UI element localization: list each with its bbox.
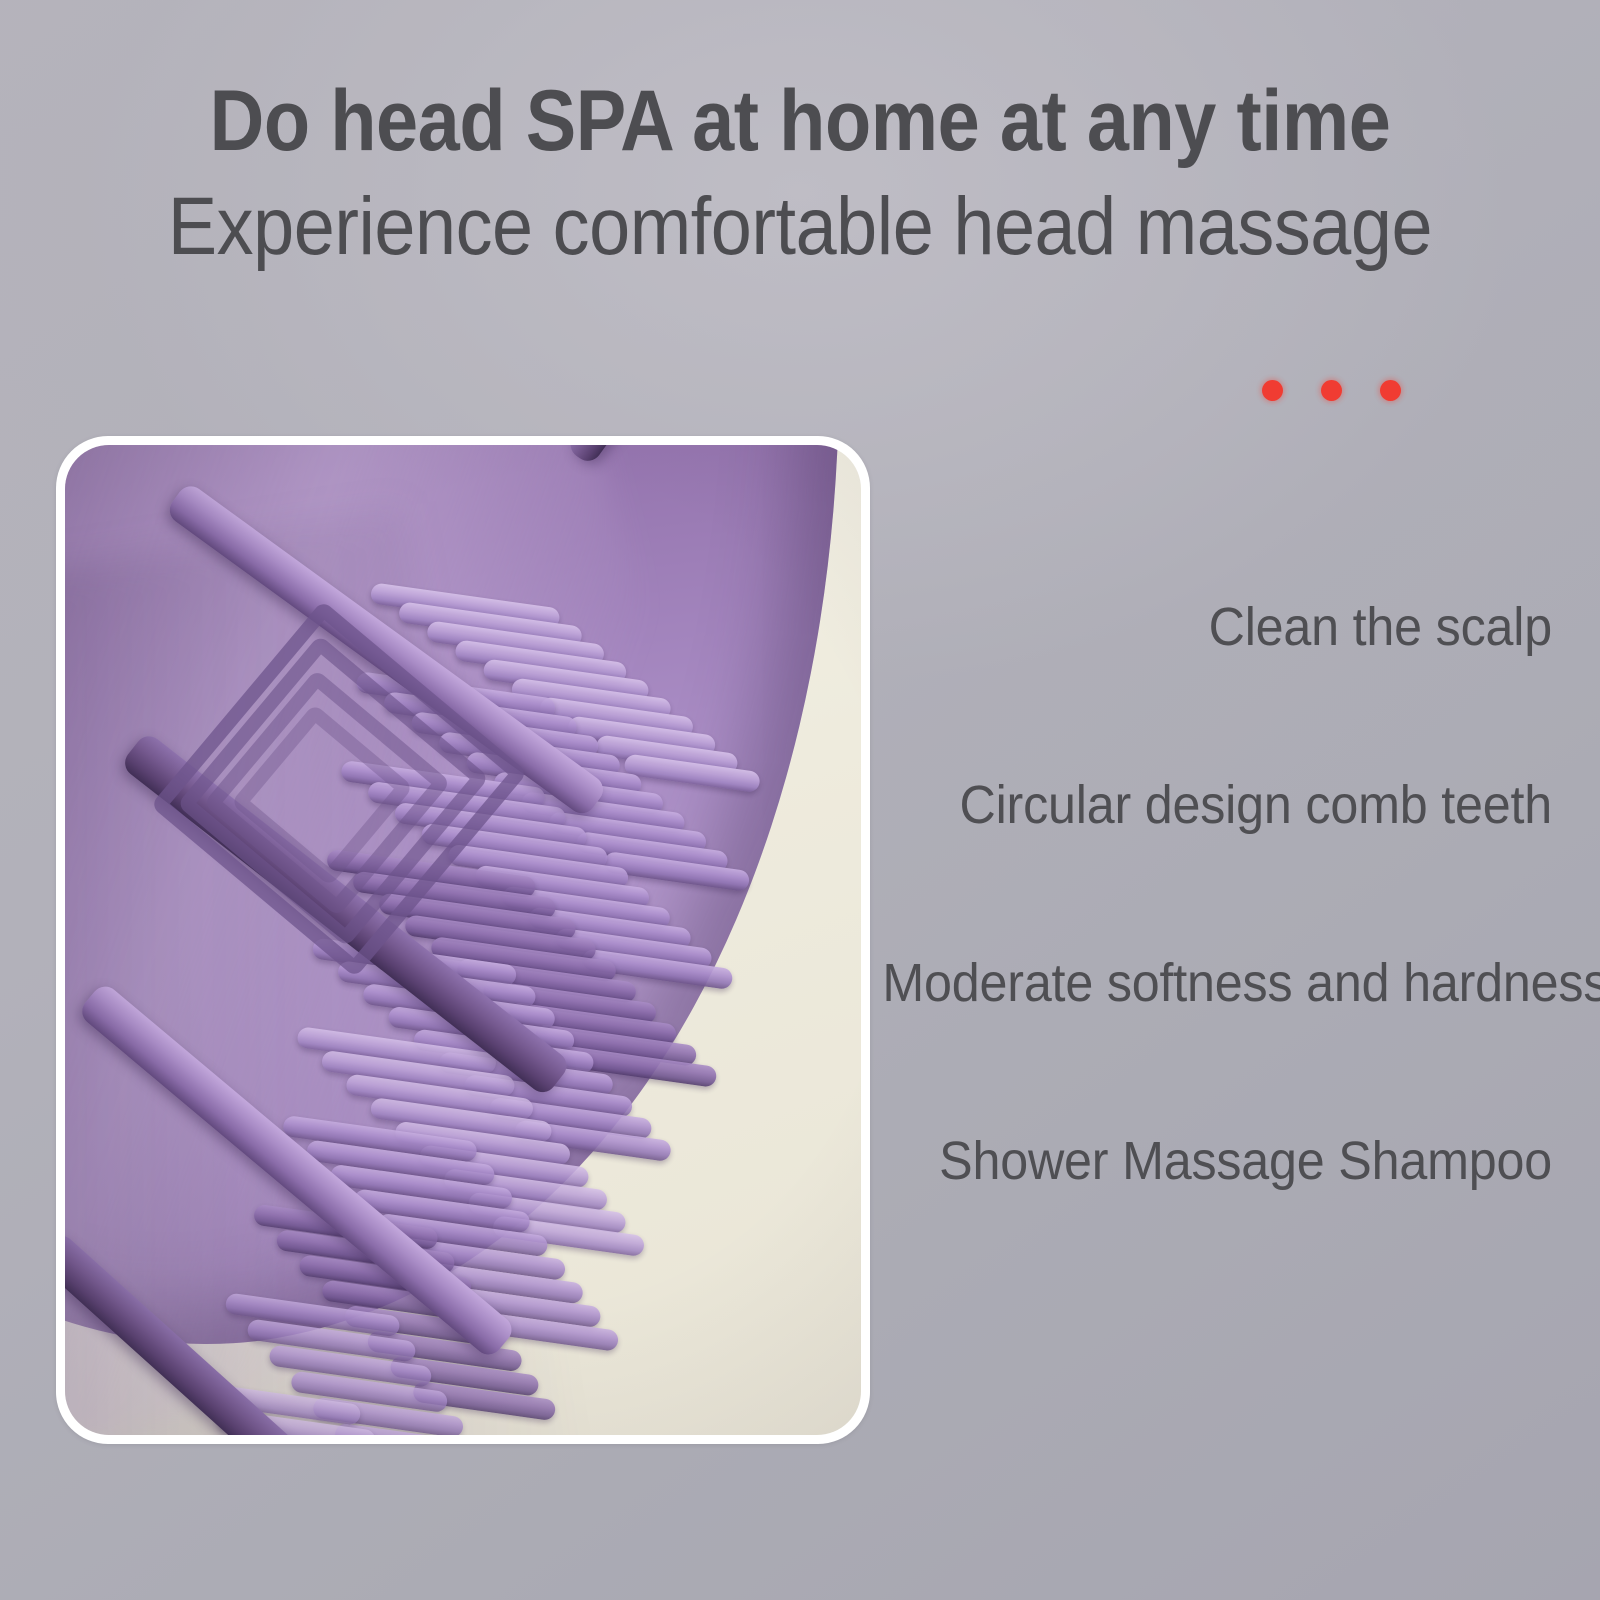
red-dot-icon-2 — [1321, 380, 1342, 401]
dot-indicator-group — [1262, 380, 1401, 401]
product-photo — [65, 445, 861, 1435]
product-poster: Do head SPA at home at any time Experien… — [0, 0, 1600, 1600]
feature-item-4: Shower Massage Shampoo — [882, 1134, 1552, 1312]
page-subtitle: Experience comfortable head massage — [80, 186, 1520, 268]
headline-block: Do head SPA at home at any time Experien… — [0, 78, 1600, 268]
product-photo-card — [56, 436, 870, 1444]
product-scene — [65, 445, 861, 1435]
red-dot-icon-1 — [1262, 380, 1283, 401]
red-dot-icon-3 — [1380, 380, 1401, 401]
feature-item-3: Moderate softness and hardness — [882, 956, 1552, 1134]
feature-list: Clean the scalp Circular design comb tee… — [832, 600, 1552, 1312]
feature-item-1: Clean the scalp — [882, 600, 1552, 778]
feature-item-2: Circular design comb teeth — [882, 778, 1552, 956]
page-title: Do head SPA at home at any time — [96, 78, 1504, 164]
